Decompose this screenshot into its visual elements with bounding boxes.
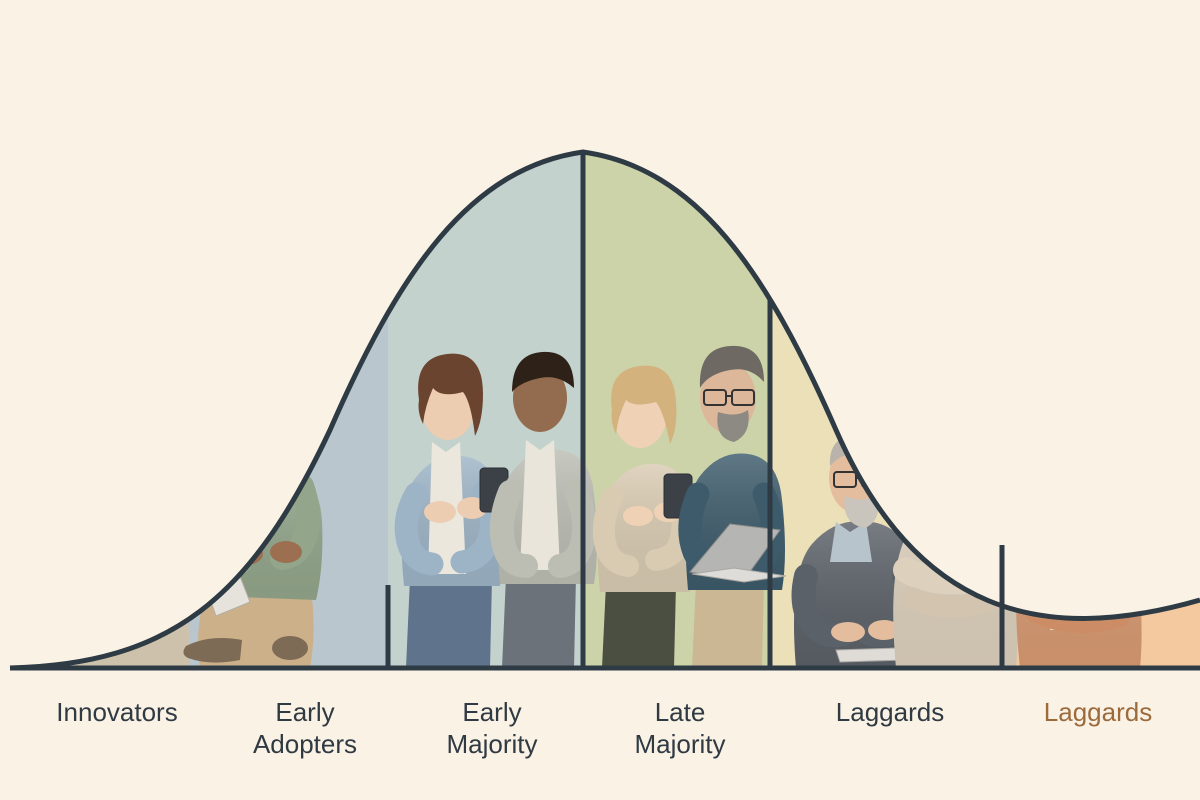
adoption-curve-infographic: TECHNOLOGY ADOPTION CURVE: [0, 0, 1200, 800]
segment-label-late-majority: Late Majority: [563, 696, 797, 760]
segment-label-laggards: Laggards: [773, 696, 1007, 728]
segment-label-laggards-accent: Laggards: [981, 696, 1200, 728]
segment-labels: Innovators Early Adopters Early Majority…: [0, 696, 1200, 796]
adoption-curve-chart: [0, 0, 1200, 690]
